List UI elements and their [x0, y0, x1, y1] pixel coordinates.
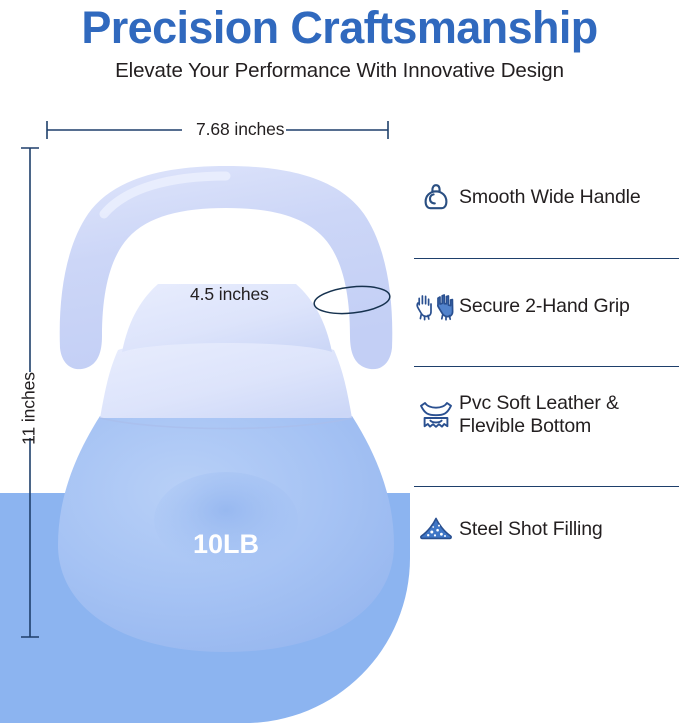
page-subtitle: Elevate Your Performance With Innovative… — [0, 59, 679, 83]
dimension-grip-label: 4.5 inches — [190, 284, 269, 305]
kettlebell-seam — [100, 418, 352, 429]
feature-divider — [414, 366, 679, 367]
feature-label: Secure 2-Hand Grip — [459, 295, 630, 318]
kettlebell-handle — [60, 166, 393, 369]
feature-label: Steel Shot Filling — [459, 518, 603, 541]
page-title: Precision Craftsmanship — [0, 2, 679, 54]
feature-item-steel-shot-filling: Steel Shot Filling — [413, 514, 679, 544]
steel-shot-pile-icon — [413, 514, 459, 544]
feature-divider — [414, 486, 679, 487]
two-hands-icon — [413, 290, 459, 322]
handle-highlight — [104, 176, 226, 214]
soft-leather-base-icon — [413, 398, 459, 432]
floor-platform — [0, 493, 410, 723]
grip-circumference-ellipse — [313, 283, 391, 317]
header: Precision Craftsmanship Elevate Your Per… — [0, 0, 679, 100]
dimension-height-label: 11 inches — [19, 364, 40, 454]
feature-item-pvc-soft-leather: Pvc Soft Leather & Flevible Bottom — [413, 392, 679, 438]
feature-label: Pvc Soft Leather & Flevible Bottom — [459, 392, 619, 438]
feature-item-secure-2-hand-grip: Secure 2-Hand Grip — [413, 290, 679, 322]
dimension-width-label: 7.68 inches — [196, 119, 284, 140]
kettlebell-upper-body — [100, 341, 352, 418]
feature-label: Smooth Wide Handle — [459, 186, 641, 209]
feature-label-line1: Pvc Soft Leather & — [459, 392, 619, 414]
feature-label-line2: Flevible Bottom — [459, 415, 591, 437]
kettlebell-icon — [413, 180, 459, 214]
feature-item-smooth-wide-handle: Smooth Wide Handle — [413, 180, 679, 214]
feature-divider — [414, 258, 679, 259]
